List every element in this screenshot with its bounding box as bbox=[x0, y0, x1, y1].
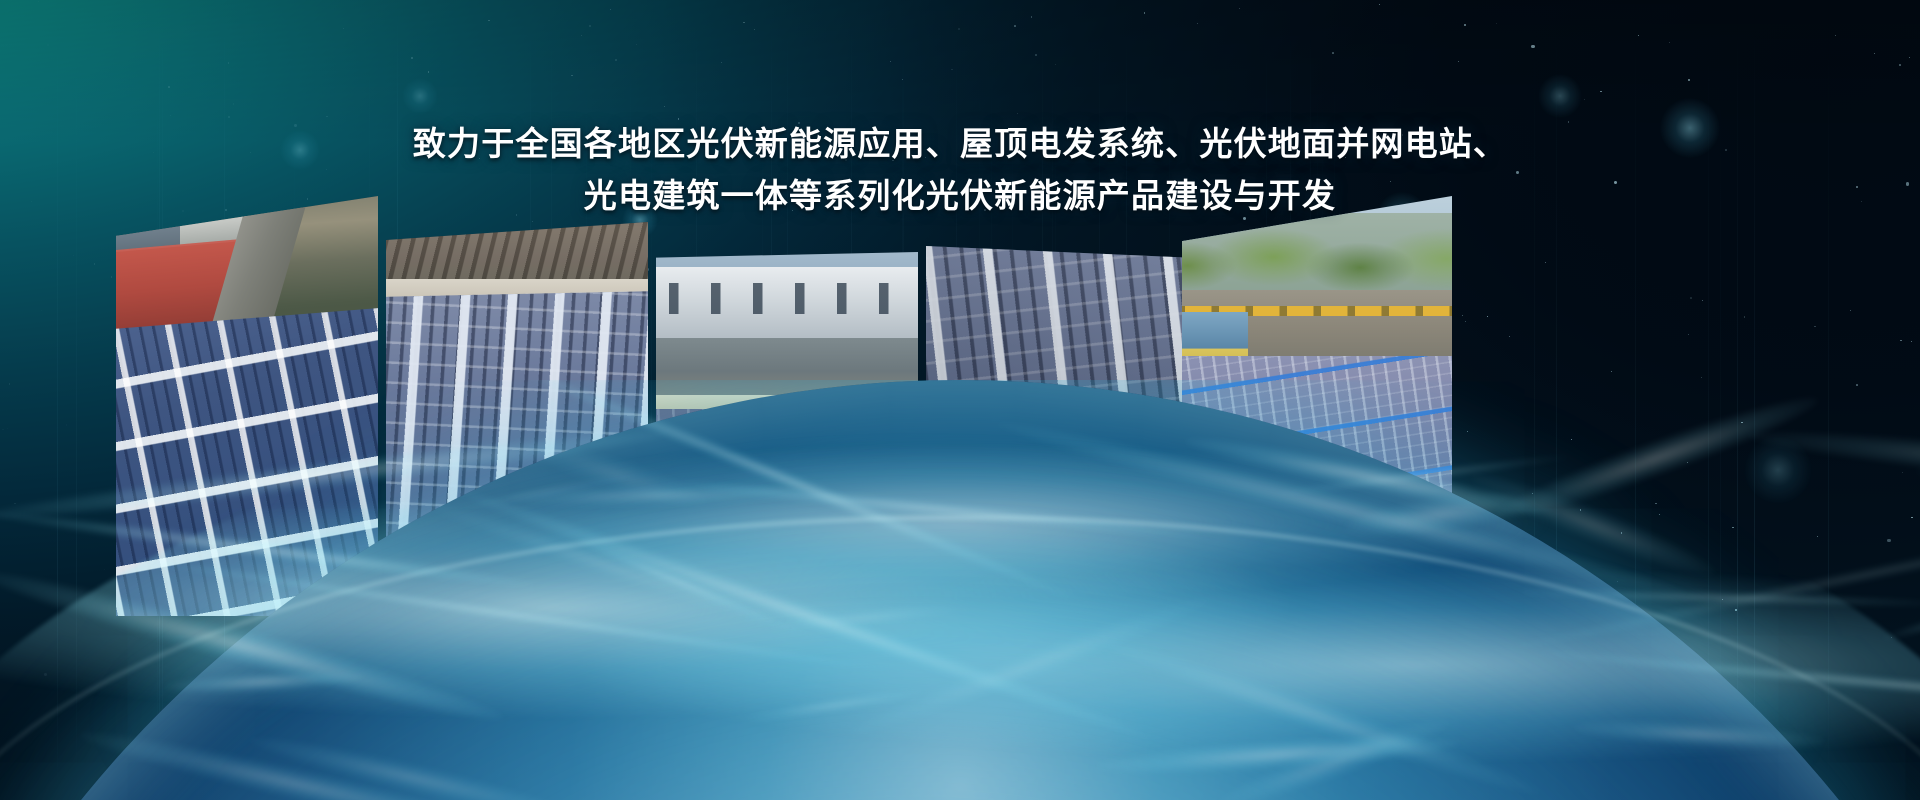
panel-3-warehouses bbox=[656, 267, 918, 343]
earth-globe bbox=[0, 380, 1920, 800]
pv-hero-banner: 致力于全国各地区光伏新能源应用、屋顶电发系统、光伏地面并网电站、 光电建筑一体等… bbox=[0, 0, 1920, 800]
panel-5-treeline bbox=[1182, 213, 1452, 301]
globe-sphere bbox=[0, 380, 1920, 800]
